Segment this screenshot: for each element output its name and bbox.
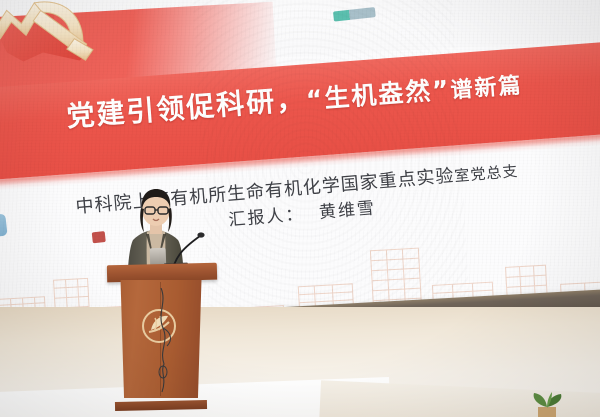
podium-top-surface: [107, 263, 217, 283]
red-marker-blob: [92, 231, 106, 243]
potted-plant: [518, 391, 576, 417]
subtitle-tail: 室党总支: [454, 162, 519, 185]
hanging-cable: [147, 288, 187, 398]
cpc-hammer-sickle-emblem: [0, 0, 106, 78]
headline-tail: 谱新篇: [450, 73, 524, 103]
conference-stage-photo: 党建引领促科研，“生机盎然”谱新篇 中科院上海有机所生命有机化学国家重点实验室党…: [0, 0, 600, 417]
wooden-podium: [113, 264, 211, 404]
podium-base: [115, 400, 207, 411]
